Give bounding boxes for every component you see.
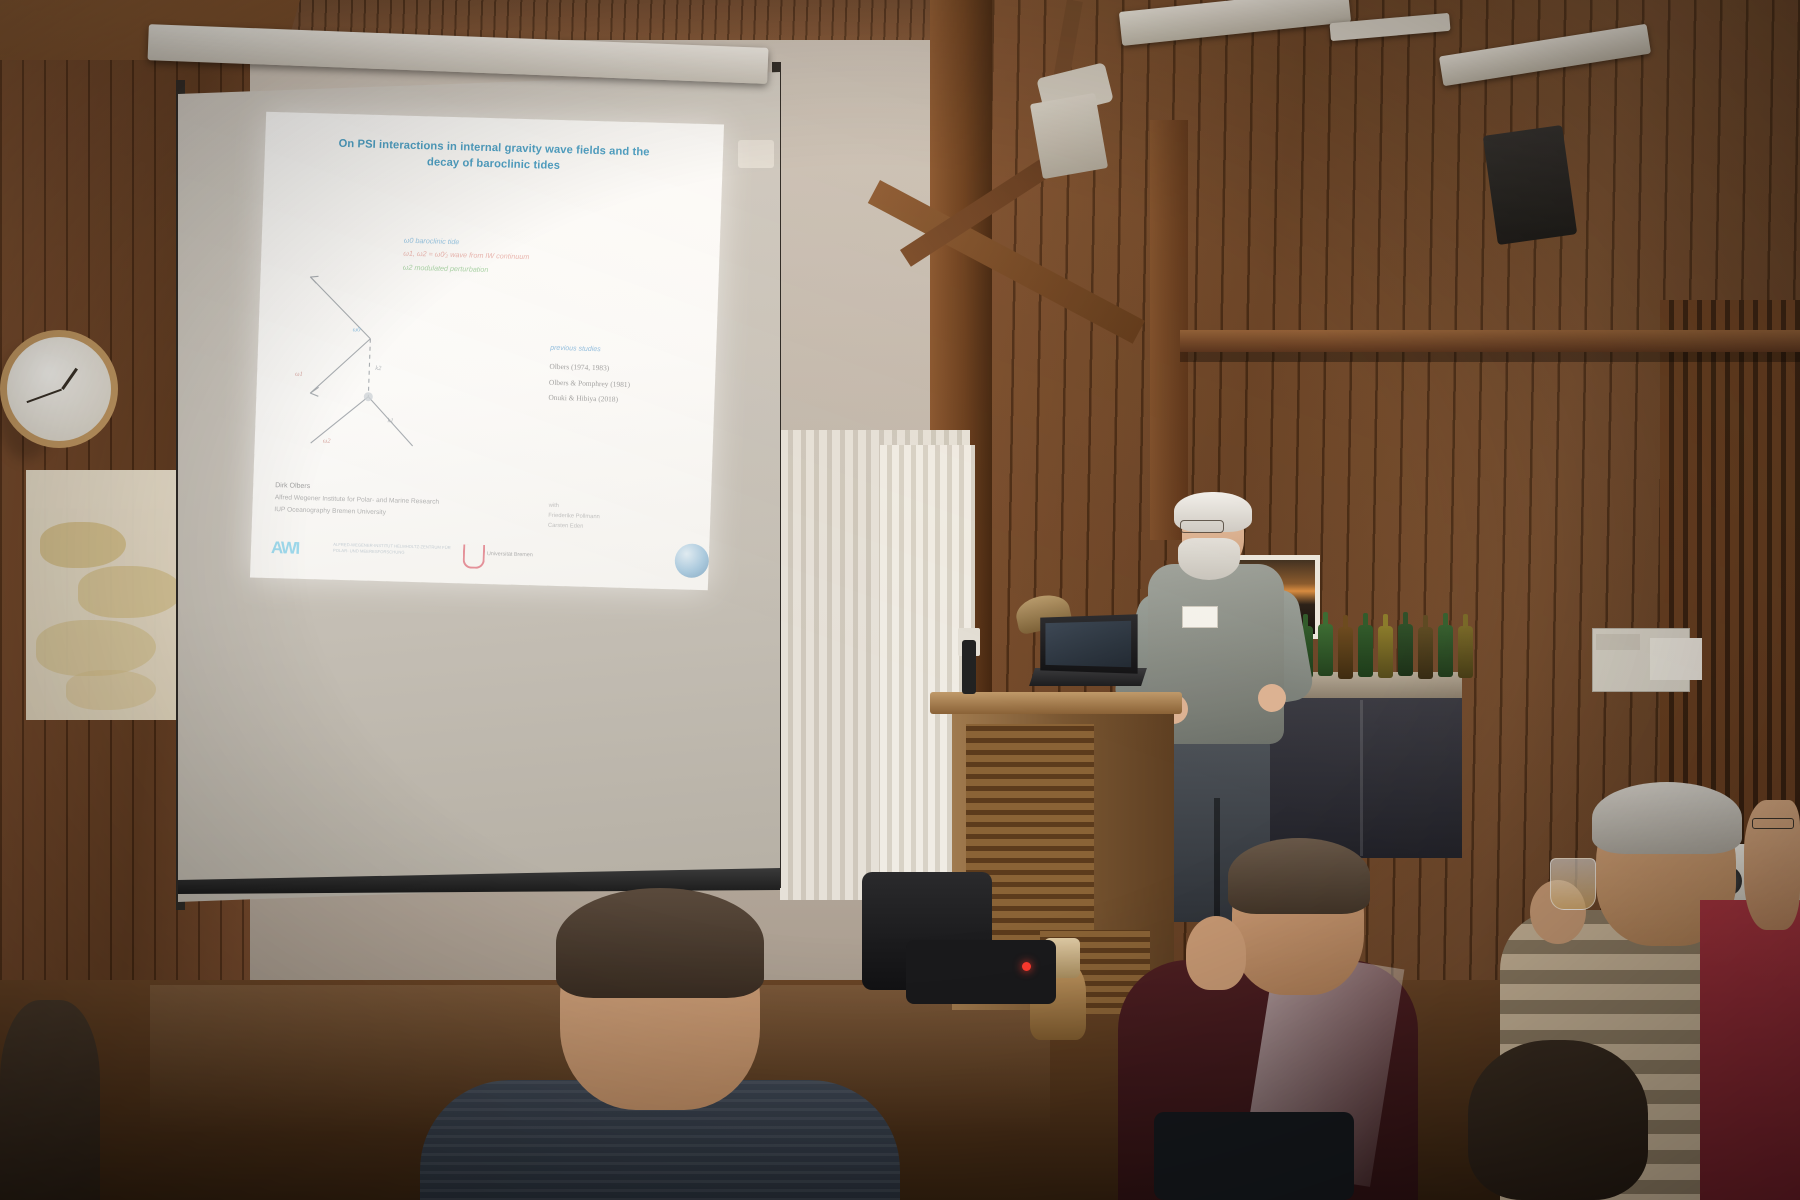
audience-glasses-icon	[1752, 818, 1794, 829]
bremen-logo-icon	[462, 544, 485, 569]
slide-logo-row: AWI ALFRED-WEGENER-INSTITUT HELMHOLTZ-ZE…	[270, 536, 691, 582]
audience-hair-front	[556, 888, 764, 998]
slide-references: previous studies Olbers (1974, 1983) Olb…	[548, 342, 710, 409]
wall-speaker	[1483, 125, 1578, 245]
chair-back	[1154, 1112, 1354, 1200]
slide-title: On PSI interactions in internal gravity …	[278, 122, 709, 178]
diagram-label-k1: k1	[387, 417, 393, 424]
presenter-leg-seam	[1214, 798, 1220, 922]
status-led-indicator	[1022, 962, 1031, 971]
audience-member-red-top	[1700, 900, 1800, 1200]
wave-interaction-diagram: ω1 ω0 ω2 k1 k2	[290, 263, 437, 462]
slide-bullet-list: ω0 baroclinic tide ω1, ω2 = ω0⁄₂ wave fr…	[403, 234, 634, 280]
bremen-logo-text: Universität Bremen	[487, 551, 533, 558]
audience-head-left-edge	[0, 1000, 100, 1200]
diagram-label-omega1: ω1	[295, 371, 303, 378]
lectern-top-surface	[930, 692, 1182, 714]
slide-author-block: Dirk Olbers Alfred Wegener Institute for…	[274, 480, 440, 520]
audience-hair	[1592, 782, 1742, 854]
wall-clock	[0, 330, 118, 448]
diagram-label-omega2: ω2	[323, 437, 331, 444]
awi-logo-text: ALFRED-WEGENER-INSTITUT HELMHOLTZ-ZENTRU…	[333, 542, 453, 558]
diagram-label-omega0: ω0	[353, 326, 361, 333]
awi-logo-icon: AWI	[271, 538, 299, 559]
equipment-case	[906, 940, 1056, 1004]
presenter-right-hand	[1258, 684, 1286, 712]
beam-shadow	[1180, 352, 1800, 362]
wall-speaker-2	[1030, 93, 1108, 179]
wall-panel-secondary	[1650, 638, 1702, 680]
projected-slide: On PSI interactions in internal gravity …	[250, 112, 724, 591]
audience-hair	[1228, 838, 1370, 914]
photo-scene: On PSI interactions in internal gravity …	[0, 0, 1800, 1200]
presenter-glasses-icon	[1180, 520, 1224, 533]
reference-item: Onuki & Hibiya (2018)	[548, 389, 708, 409]
references-heading: previous studies	[550, 342, 710, 361]
globe-icon	[674, 543, 709, 578]
collaborator-2: Carsten Eden	[548, 521, 600, 532]
presenter-beard	[1178, 538, 1240, 580]
cabinet-door-seam	[1360, 700, 1363, 856]
slide-collaborators: with Friederike Pollmann Carsten Eden	[548, 502, 601, 533]
drinking-glass	[1550, 858, 1596, 910]
wall-panel-slot	[1596, 634, 1640, 650]
audience-head-foreground	[1468, 1040, 1648, 1200]
wall-slat-panel	[1660, 300, 1800, 860]
horizontal-beam	[1180, 330, 1800, 352]
laptop-screen[interactable]	[1045, 621, 1131, 667]
screen-roller-end-cap	[738, 140, 774, 168]
presenter-name-badge	[1182, 606, 1218, 628]
power-cable	[962, 640, 976, 694]
diagram-svg	[290, 263, 437, 462]
diagram-label-k2: k2	[375, 365, 381, 372]
clock-minute-hand	[27, 388, 63, 403]
clock-hour-hand	[61, 368, 77, 390]
audience-hand-on-chin	[1186, 916, 1246, 990]
